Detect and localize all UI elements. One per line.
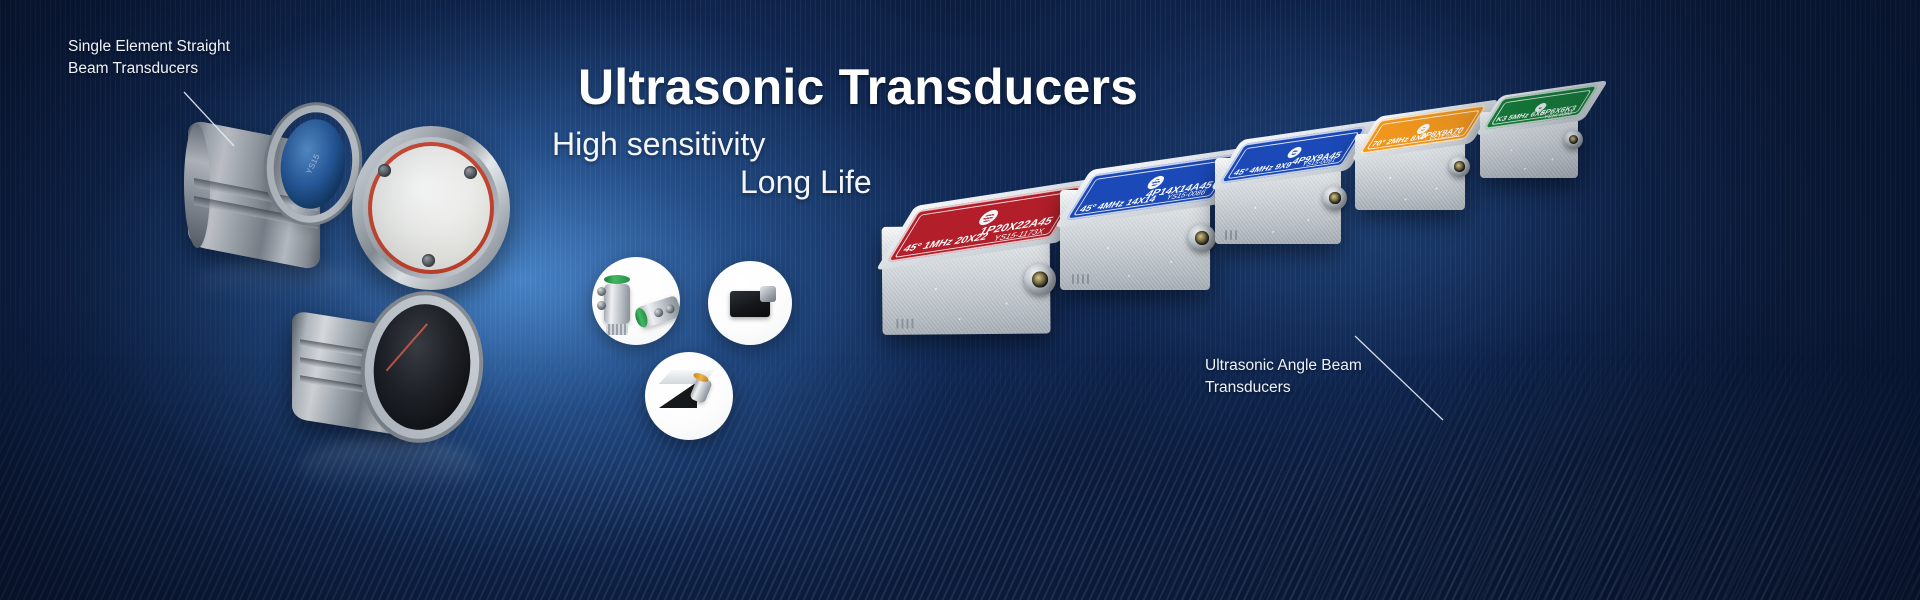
page-title: Ultrasonic Transducers <box>578 58 1138 116</box>
callout-angle-beam: Ultrasonic Angle Beam Transducers <box>1205 355 1362 399</box>
subtitle-line-1: High sensitivity <box>552 126 765 163</box>
callout-straight-beam: Single Element Straight Beam Transducers <box>68 36 230 80</box>
ultrasonic-transducers-banner: YS15 <box>0 0 1920 600</box>
subtitle-line-2: Long Life <box>740 164 872 201</box>
